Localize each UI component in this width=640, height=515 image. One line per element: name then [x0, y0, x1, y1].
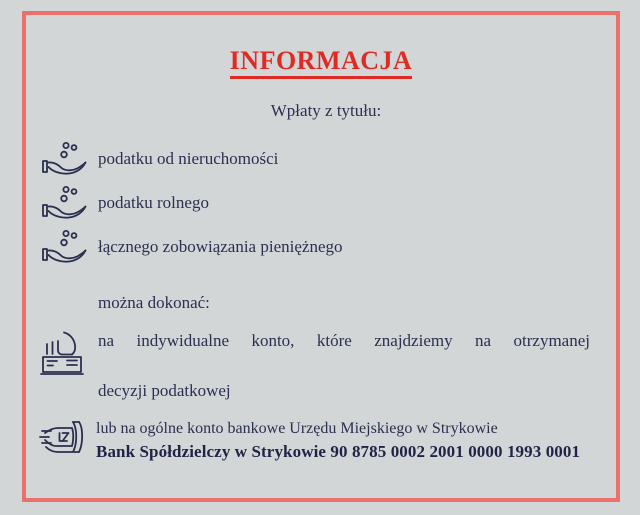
bank-details: lub na ogólne konto bankowe Urzędu Miejs…: [94, 417, 580, 465]
poster-content: INFORMACJA Wpłaty z tytułu:: [26, 15, 616, 498]
list-item-label: podatku rolnego: [94, 194, 209, 213]
list-item-label: łącznego zobowiązania pieniężnego: [94, 238, 342, 257]
middle-text: można dokonać:: [98, 293, 616, 313]
list-item-label: podatku od nieruchomości: [94, 150, 278, 169]
list-item: łącznego zobowiązania pieniężnego: [40, 225, 616, 269]
hand-with-coins-icon: [40, 227, 94, 267]
payment-method-bank-account: lub na ogólne konto bankowe Urzędu Miejs…: [26, 417, 616, 465]
payment-method-individual-account: na indywidualne konto, które znajdziemy …: [26, 329, 616, 403]
payment-types-list: podatku od nieruchomości: [26, 137, 616, 269]
bank-intro-text: lub na ogólne konto bankowe Urzędu Miejs…: [96, 417, 580, 440]
list-item: podatku od nieruchomości: [40, 137, 616, 181]
hand-on-keyboard-icon: [40, 329, 94, 377]
subtitle-container: Wpłaty z tytułu:: [26, 101, 616, 121]
information-poster: INFORMACJA Wpłaty z tytułu:: [0, 0, 640, 515]
hand-with-banknote-zl-icon: [36, 417, 94, 465]
payment-method-line-1: na indywidualne konto, które znajdziemy …: [98, 331, 590, 375]
subtitle: Wpłaty z tytułu:: [271, 101, 381, 121]
bank-account-number: Bank Spółdzielczy w Strykowie 90 8785 00…: [96, 440, 580, 465]
payment-method-line-2: decyzji podatkowej: [98, 381, 231, 400]
title-container: INFORMACJA: [26, 47, 616, 79]
page-title: INFORMACJA: [230, 47, 413, 79]
payment-method-text: na indywidualne konto, które znajdziemy …: [94, 329, 590, 403]
list-item: podatku rolnego: [40, 181, 616, 225]
hand-with-coins-icon: [40, 183, 94, 223]
hand-with-coins-icon: [40, 139, 94, 179]
